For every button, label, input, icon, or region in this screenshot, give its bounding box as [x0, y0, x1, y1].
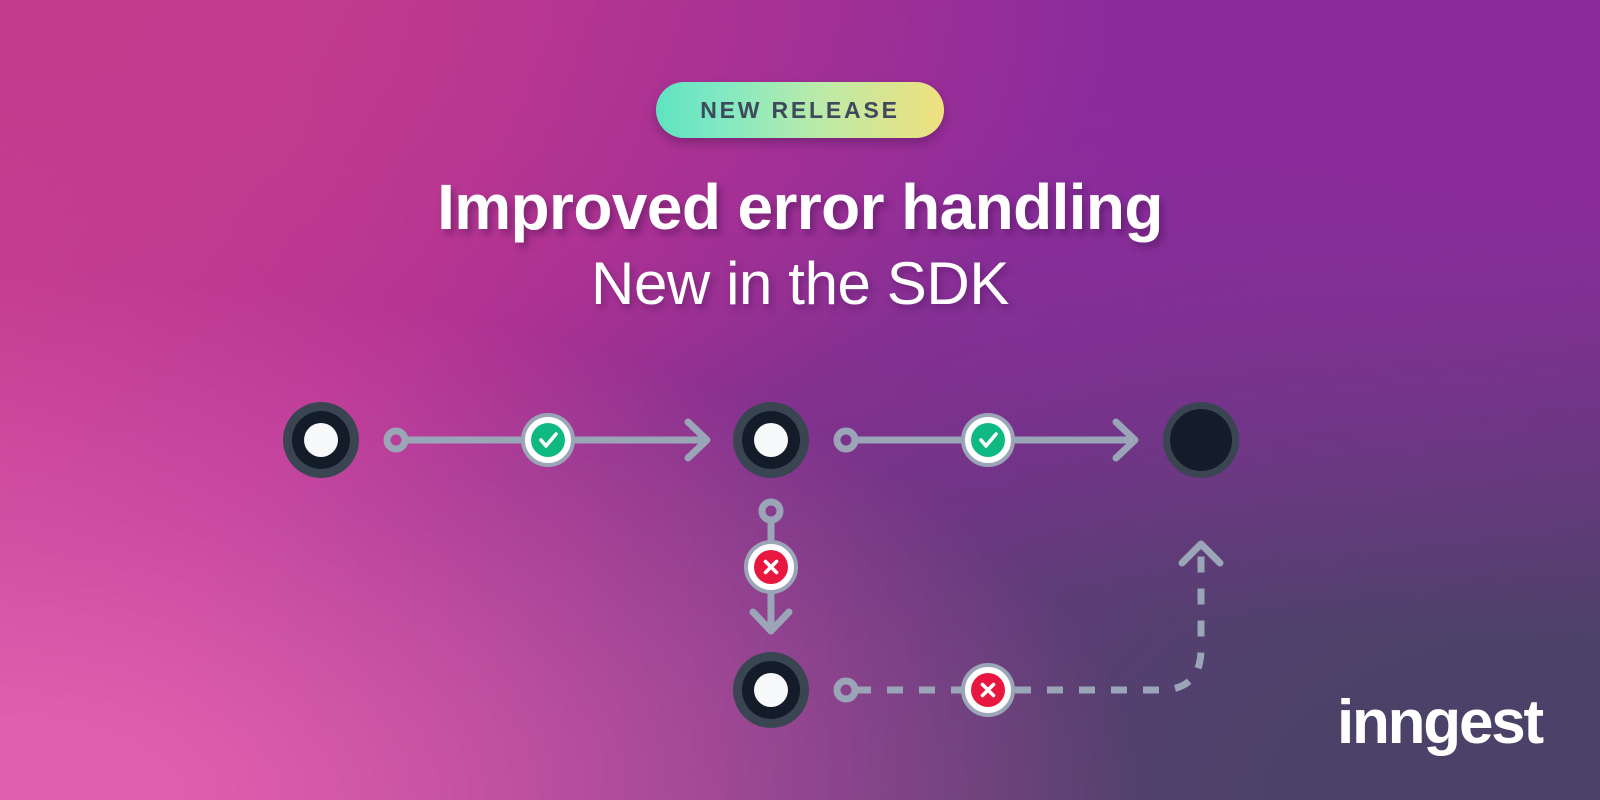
edge-layer [387, 422, 1220, 699]
node-dot [304, 423, 338, 457]
end-step-node[interactable] [1163, 402, 1239, 478]
retry-step-node[interactable] [733, 652, 809, 728]
edge-line-dashed [855, 552, 1201, 690]
edge-origin-dot [837, 681, 855, 699]
node-dot [754, 673, 788, 707]
node-dot [754, 423, 788, 457]
status-badge-error[interactable] [746, 542, 796, 592]
node-core [1170, 409, 1232, 471]
status-badge-success[interactable] [523, 415, 573, 465]
start-step-node[interactable] [283, 402, 359, 478]
retry-to-end-edge [837, 544, 1220, 699]
workflow-diagram [0, 0, 1600, 800]
status-badge-error[interactable] [963, 665, 1013, 715]
status-badge-success[interactable] [963, 415, 1013, 465]
badge-fill [531, 423, 565, 457]
badge-fill [971, 423, 1005, 457]
middle-step-node[interactable] [733, 402, 809, 478]
promo-banner: NEW RELEASE Improved error handling New … [0, 0, 1600, 800]
inngest-logo: inngest [1337, 692, 1542, 754]
